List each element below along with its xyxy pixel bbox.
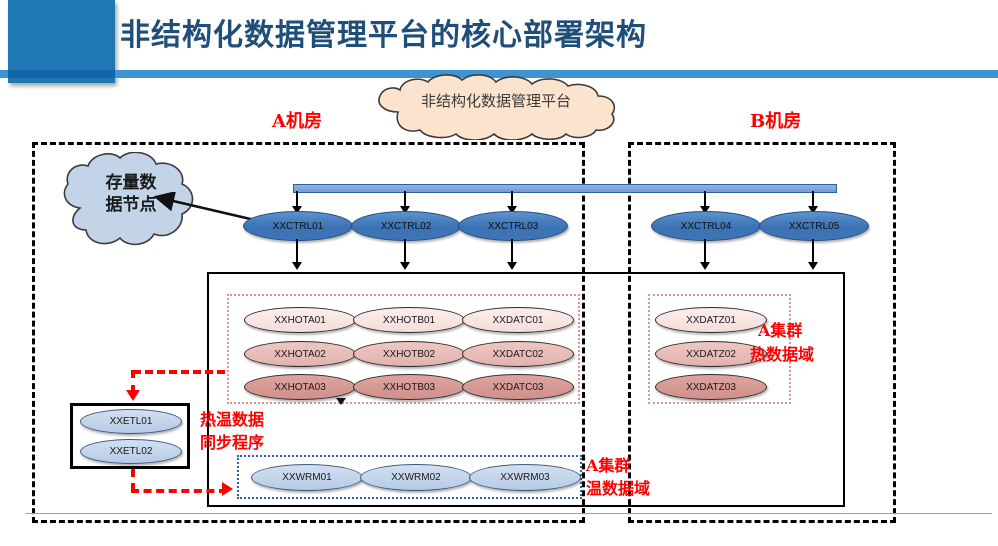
warm-node-xxwrm02[interactable]: XXWRM02 <box>360 464 472 491</box>
ctrl-down-arrow-4 <box>700 262 710 270</box>
hot-node-xxdatc01[interactable]: XXDATC01 <box>462 307 574 333</box>
hot-zone-label-line2: 热数据域 <box>750 344 814 365</box>
ctrl-down-3 <box>511 239 513 264</box>
platform-cloud-label: 非结构化数据管理平台 <box>362 90 630 111</box>
hot-node-xxhota02[interactable]: XXHOTA02 <box>244 341 356 367</box>
ctrl-down-2 <box>404 239 406 264</box>
room-label-b: B机房 <box>750 107 801 133</box>
node-label: XXETL02 <box>110 446 153 457</box>
node-label: XXDATC02 <box>493 349 544 360</box>
header-accent-bar-dark <box>8 70 115 78</box>
footer-rule <box>26 513 992 514</box>
hot-node-xxdatc03[interactable]: XXDATC03 <box>462 374 574 400</box>
node-label: XXETL01 <box>110 416 153 427</box>
sync-flow-out-horizontal <box>131 489 227 493</box>
sync-flow-out-vertical <box>131 469 135 491</box>
warm-node-xxwrm03[interactable]: XXWRM03 <box>469 464 581 491</box>
hot-node-xxhotb01[interactable]: XXHOTB01 <box>353 307 465 333</box>
node-label: XXCTRL03 <box>488 221 539 232</box>
node-label: XXWRM03 <box>500 472 549 483</box>
hot-node-xxhota01[interactable]: XXHOTA01 <box>244 307 356 333</box>
ctrl-down-5 <box>812 239 814 264</box>
control-node-xxctrl01[interactable]: XXCTRL01 <box>243 211 353 241</box>
sync-note-line1: 热温数据 <box>200 409 264 430</box>
hot-node-xxdatz03[interactable]: XXDATZ03 <box>655 374 767 400</box>
sync-flow-out-arrow <box>222 482 233 496</box>
sync-flow-in-horizontal <box>133 370 225 374</box>
node-label: XXDATZ03 <box>686 382 736 393</box>
sync-flow-in-arrow <box>126 390 140 401</box>
node-label: XXWRM01 <box>282 472 331 483</box>
control-node-xxctrl05[interactable]: XXCTRL05 <box>759 211 869 241</box>
warm-zone-label-line1: A集群 <box>586 455 630 476</box>
node-label: XXHOTA02 <box>274 349 326 360</box>
ctrl-down-arrow-3 <box>507 262 517 270</box>
ctrl-down-4 <box>704 239 706 264</box>
node-label: XXHOTB02 <box>383 349 435 360</box>
node-label: XXHOTA01 <box>274 315 326 326</box>
ctrl-down-arrow-1 <box>292 262 302 270</box>
hot-zone-label-line1: A集群 <box>758 320 802 341</box>
hot-node-xxhota03[interactable]: XXHOTA03 <box>244 374 356 400</box>
controller-bus-bar <box>293 184 837 193</box>
node-label: XXHOTB01 <box>383 315 435 326</box>
control-node-xxctrl02[interactable]: XXCTRL02 <box>351 211 461 241</box>
warm-node-xxwrm01[interactable]: XXWRM01 <box>251 464 363 491</box>
etl-node-xxetl02[interactable]: XXETL02 <box>80 439 182 464</box>
node-label: XXCTRL04 <box>681 221 732 232</box>
node-label: XXDATC01 <box>493 315 544 326</box>
control-node-xxctrl03[interactable]: XXCTRL03 <box>458 211 568 241</box>
node-label: XXDATC03 <box>493 382 544 393</box>
ctrl-down-1 <box>296 239 298 264</box>
node-label: XXCTRL02 <box>381 221 432 232</box>
node-label: XXDATZ01 <box>686 315 736 326</box>
etl-node-xxetl01[interactable]: XXETL01 <box>80 409 182 434</box>
hot-node-xxdatz01[interactable]: XXDATZ01 <box>655 307 767 333</box>
hot-node-xxdatc02[interactable]: XXDATC02 <box>462 341 574 367</box>
room-label-a: A机房 <box>272 107 322 133</box>
hot-node-xxhotb03[interactable]: XXHOTB03 <box>353 374 465 400</box>
node-label: XXHOTB03 <box>383 382 435 393</box>
node-label: XXCTRL05 <box>789 221 840 232</box>
warm-zone-label-line2: 温数据域 <box>586 478 650 499</box>
page-title: 非结构化数据管理平台的核心部署架构 <box>120 8 920 64</box>
sync-note-line2: 同步程序 <box>200 432 264 453</box>
node-label: XXHOTA03 <box>274 382 326 393</box>
ctrl-down-arrow-5 <box>808 262 818 270</box>
control-node-xxctrl04[interactable]: XXCTRL04 <box>651 211 761 241</box>
node-label: XXWRM02 <box>391 472 440 483</box>
slide-canvas: 非结构化数据管理平台的核心部署架构 A机房 B机房 非结构化数据管理平台 存量数… <box>0 0 998 546</box>
node-label: XXCTRL01 <box>273 221 324 232</box>
hot-node-xxhotb02[interactable]: XXHOTB02 <box>353 341 465 367</box>
ctrl-down-arrow-2 <box>400 262 410 270</box>
hot-zone-marker-left <box>336 398 346 405</box>
node-label: XXDATZ02 <box>686 349 736 360</box>
